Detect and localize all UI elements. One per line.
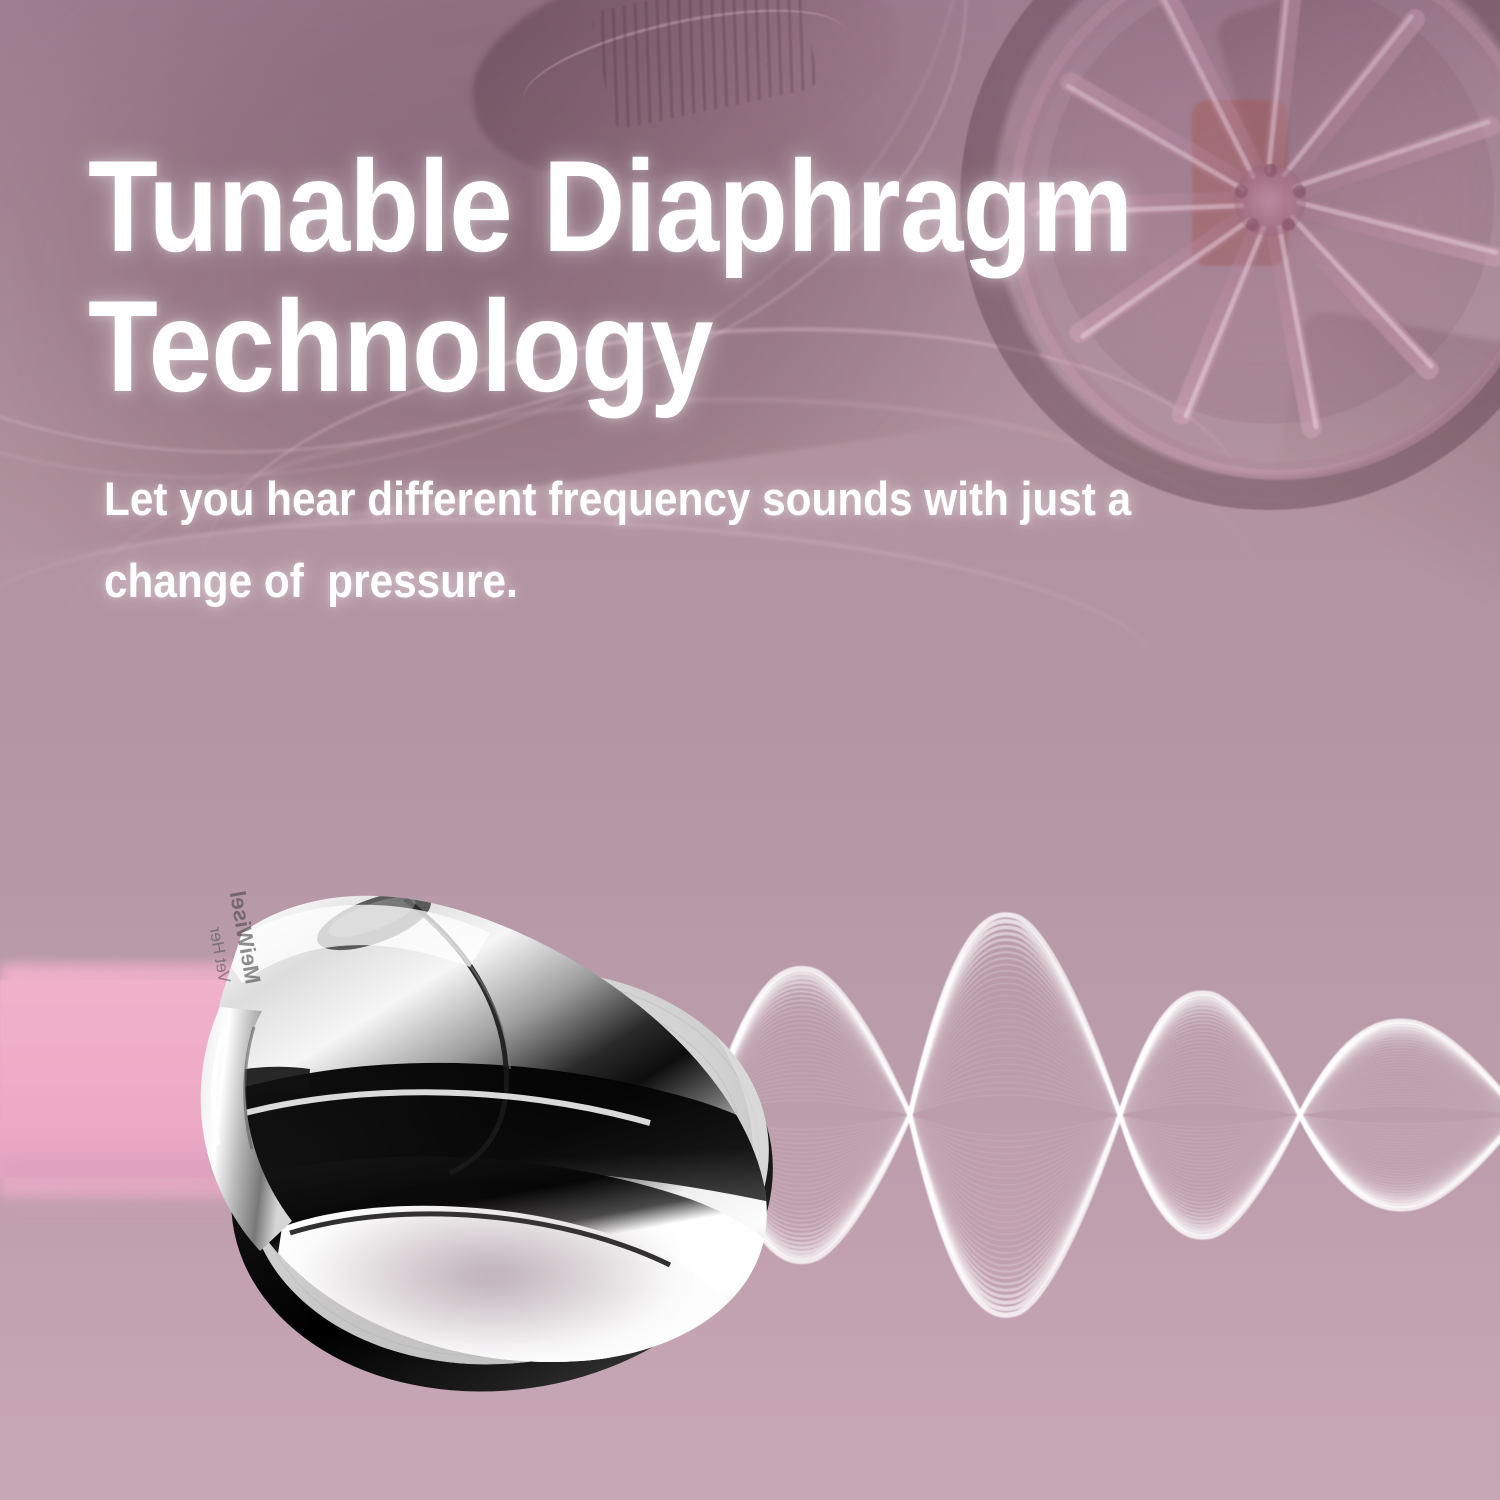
subtitle-line-1: Let you hear different frequency sounds … (104, 458, 1301, 540)
page-title: Tunable Diaphragm Technology (88, 136, 1232, 416)
car-grille-mesh (590, 0, 820, 131)
subtitle: Let you hear different frequency sounds … (104, 458, 1301, 622)
headline-line-1: Tunable Diaphragm (88, 136, 1232, 276)
car-headlight-highlight (514, 0, 856, 146)
soundwave-line (1300, 1115, 1500, 1142)
soundwave-line (910, 1115, 1120, 1135)
engraving-subtext: Vet Her (206, 925, 235, 984)
soundwave-line (1300, 1088, 1500, 1115)
stethoscope-chestpiece-icon: MeiWisel Vet Her (150, 855, 850, 1425)
feature-banner: MeiWisel Vet Her Tunable Diaphragm Techn… (0, 0, 1500, 1500)
product-drop-shadow (210, 1155, 770, 1395)
subtitle-line-2: change of pressure. (104, 540, 1301, 622)
product-engraving: MeiWisel Vet Her (200, 889, 266, 990)
headline-line-2: Technology (88, 276, 1232, 416)
soundwave-line (910, 1095, 1120, 1115)
headline-block: Tunable Diaphragm Technology (88, 136, 1388, 416)
subtitle-block: Let you hear different frequency sounds … (104, 458, 1434, 622)
